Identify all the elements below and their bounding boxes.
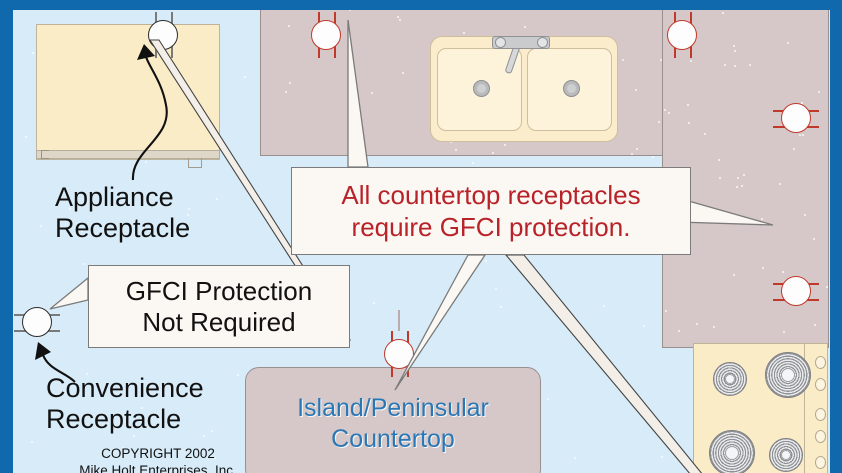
cooktop-knob-3-icon <box>815 408 826 421</box>
cooktop-burner-3-icon <box>709 430 755 473</box>
cooktop-burner-4-icon <box>769 438 803 472</box>
receptacle-body <box>311 20 341 50</box>
dishwasher-appliance <box>36 24 220 160</box>
label-convenience-receptacle: Convenience Receptacle <box>46 373 204 435</box>
diagram-inner-area: Island/Peninsular Countertop <box>13 10 830 473</box>
receptacle-convenience[interactable] <box>14 299 60 345</box>
cooktop-burner-1-icon <box>713 362 747 396</box>
diagram-canvas: Island/Peninsular Countertop <box>0 0 842 473</box>
sink-drain-left-icon <box>473 80 490 97</box>
receptacle-counter-4[interactable] <box>773 268 819 314</box>
receptacle-body <box>148 20 178 50</box>
receptacle-counter-1[interactable] <box>303 12 349 58</box>
faucet-knob-right-icon <box>537 37 548 48</box>
cooktop-burner-2-icon <box>765 352 811 398</box>
receptacle-body <box>22 307 52 337</box>
callout-gfci-not-required: GFCI Protection Not Required <box>88 265 350 348</box>
receptacle-counter-3[interactable] <box>773 95 819 141</box>
receptacle-body <box>781 103 811 133</box>
cooktop-knob-4-icon <box>815 430 826 443</box>
receptacle-island-1[interactable] <box>376 331 422 377</box>
faucet-knob-left-icon <box>495 37 506 48</box>
copyright-notice: COPYRIGHT 2002 Mike Holt Enterprises, In… <box>63 445 253 473</box>
island-countertop-label: Island/Peninsular Countertop <box>245 393 541 455</box>
dishwasher-hinge-icon <box>188 158 202 168</box>
receptacle-appliance[interactable] <box>140 12 186 58</box>
label-appliance-receptacle: Appliance Receptacle <box>55 182 190 244</box>
cooktop-knob-5-icon <box>815 456 826 469</box>
callout-gfci-required: All countertop receptacles require GFCI … <box>291 167 691 255</box>
dishwasher-handle-icon <box>41 150 49 159</box>
receptacle-body <box>781 276 811 306</box>
receptacle-body <box>384 339 414 369</box>
cooktop-knob-1-icon <box>815 356 826 369</box>
receptacle-body <box>667 20 697 50</box>
sink-drain-right-icon <box>563 80 580 97</box>
receptacle-counter-2[interactable] <box>659 12 705 58</box>
cooktop-knob-2-icon <box>815 378 826 391</box>
